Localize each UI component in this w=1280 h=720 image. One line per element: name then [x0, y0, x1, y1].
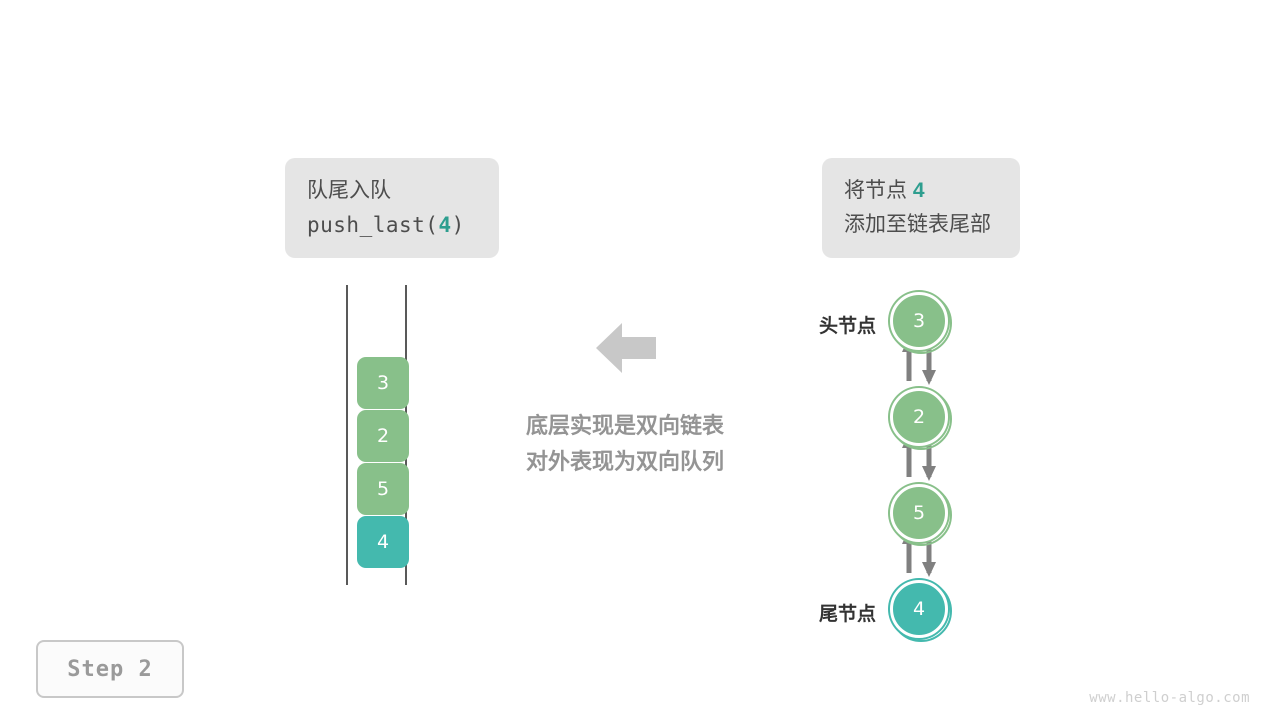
callout-right-line1-prefix: 将节点 — [844, 179, 913, 202]
callout-right-line1: 将节点 4 — [844, 174, 998, 208]
list-node-value: 4 — [913, 598, 925, 620]
deque-cell-value: 3 — [377, 372, 389, 394]
watermark: www.hello-algo.com — [1089, 690, 1250, 706]
callout-push-last: 队尾入队 push_last(4) — [285, 158, 499, 258]
deque-cell: 3 — [357, 357, 409, 409]
callout-append-tail: 将节点 4 添加至链表尾部 — [822, 158, 1020, 258]
arrow-left-icon — [596, 320, 656, 376]
center-caption: 底层实现是双向链表 对外表现为双向队列 — [455, 408, 795, 480]
center-caption-line2: 对外表现为双向队列 — [455, 444, 795, 480]
deque-cell: 5 — [357, 463, 409, 515]
callout-right-line2: 添加至链表尾部 — [844, 208, 998, 242]
list-node-value: 5 — [913, 502, 925, 524]
deque-cell-value: 5 — [377, 478, 389, 500]
tail-node-label: 尾节点 — [780, 599, 876, 626]
deque-container: 3 2 5 4 — [344, 285, 409, 585]
list-node: 2 — [890, 388, 948, 446]
deque-cell-value: 2 — [377, 425, 389, 447]
linked-list: 3 2 5 4 头节点 尾节点 — [780, 285, 980, 645]
list-node-value: 3 — [913, 310, 925, 332]
head-node-label: 头节点 — [780, 311, 876, 338]
callout-left-code-suffix: ) — [452, 213, 465, 237]
deque-cell: 2 — [357, 410, 409, 462]
deque-cell: 4 — [357, 516, 409, 568]
step-badge: Step 2 — [36, 640, 184, 698]
diagram-canvas: 队尾入队 push_last(4) 将节点 4 添加至链表尾部 3 2 5 4 … — [0, 0, 1280, 720]
callout-right-line1-value: 4 — [913, 179, 925, 202]
callout-left-code-prefix: push_last( — [307, 213, 438, 237]
deque-cell-value: 4 — [377, 531, 389, 553]
center-caption-line1: 底层实现是双向链表 — [455, 408, 795, 444]
list-node-value: 2 — [913, 406, 925, 428]
callout-left-code-value: 4 — [438, 213, 451, 237]
callout-left-line1: 队尾入队 — [307, 174, 477, 208]
list-node: 3 — [890, 292, 948, 350]
list-node: 5 — [890, 484, 948, 542]
list-node: 4 — [890, 580, 948, 638]
callout-left-line2: push_last(4) — [307, 208, 477, 242]
deque-rail-left — [346, 285, 348, 585]
